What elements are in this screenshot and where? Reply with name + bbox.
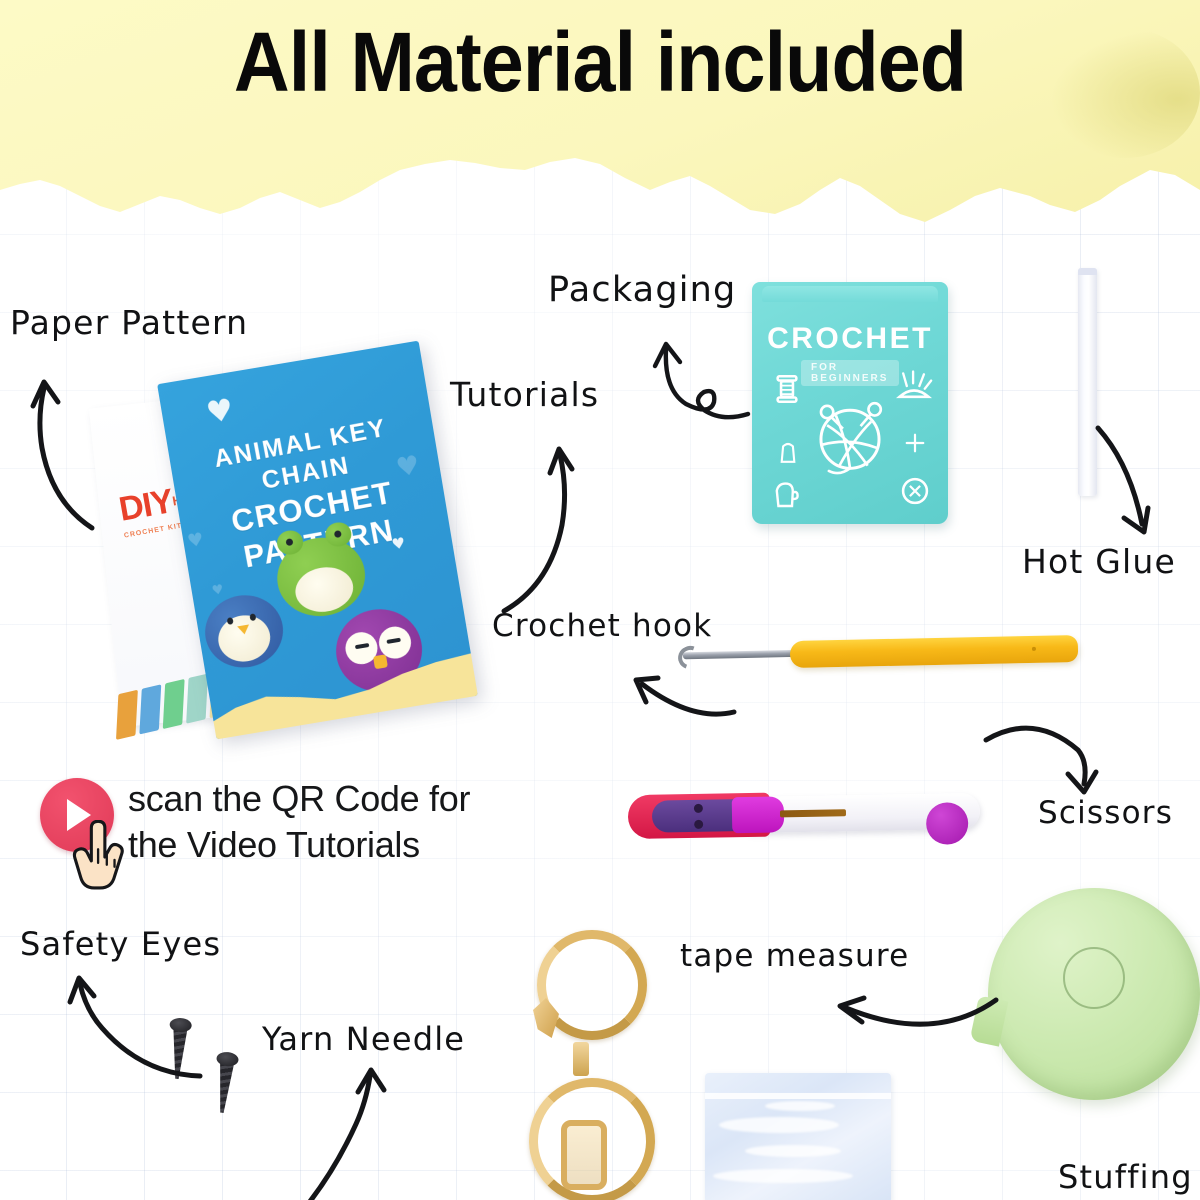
yarn-ball-icon — [806, 390, 894, 478]
arrow-to-tutorials — [458, 415, 588, 615]
infographic-canvas: All Material included DIYHANDICRAFT CROC… — [0, 0, 1200, 1200]
cutter-blade — [780, 809, 846, 817]
arrow-to-paper-pattern — [6, 352, 136, 532]
tape-measure — [988, 888, 1200, 1100]
qr-callout-line2: the Video Tutorials — [128, 822, 470, 868]
tape-measure-center — [1063, 947, 1125, 1009]
bag-subtitle: FOR BEGINNERS — [801, 360, 899, 386]
stuffing-bag — [705, 1073, 891, 1200]
label-safety-eyes: Safety Eyes — [20, 925, 221, 963]
thimble-icon — [774, 438, 802, 466]
pincushion-icon — [894, 368, 934, 404]
bag-brand-word: CROCHET — [752, 322, 948, 356]
keychain-link — [573, 1042, 589, 1076]
sewing-button-icon — [898, 474, 932, 508]
crochet-package-bag: CROCHET FOR BEGINNERS — [752, 282, 948, 524]
qr-callout-line1: scan the QR Code for — [128, 776, 470, 822]
thread-cutter-scissors — [628, 781, 981, 847]
arrow-to-safety-eyes — [50, 960, 210, 1090]
heart-icon: ♥ — [204, 392, 236, 431]
arrow-to-crochet-hook — [600, 650, 740, 730]
penguin-amigurumi — [200, 589, 289, 673]
keychain-swivel — [561, 1120, 607, 1190]
hand-pointer-icon — [72, 820, 130, 896]
label-tutorials: Tutorials — [450, 375, 599, 414]
label-yarn-needle: Yarn Needle — [262, 1020, 465, 1058]
label-paper-pattern: Paper Pattern — [10, 303, 248, 342]
keychain-clasp — [515, 930, 665, 1200]
label-packaging: Packaging — [548, 270, 736, 310]
qr-callout-text: scan the QR Code for the Video Tutorials — [128, 776, 470, 868]
arrow-to-scissors — [980, 710, 1110, 820]
arrow-to-tape-measure — [810, 962, 1010, 1052]
arrow-to-hot-glue — [1090, 420, 1200, 550]
label-stuffing: Stuffing — [1058, 1158, 1193, 1196]
sparkle-icon — [904, 432, 926, 454]
cutter-knob — [926, 802, 969, 845]
heart-icon: ♥ — [211, 582, 225, 599]
mitten-icon — [768, 478, 800, 510]
bag-zip-top — [762, 286, 938, 302]
thread-spool-icon — [770, 372, 804, 406]
arrow-to-yarn-needle — [288, 1058, 428, 1200]
arrow-to-packaging — [630, 318, 760, 428]
page-title: All Material included — [48, 18, 1152, 106]
cutter-cap-magenta — [732, 796, 785, 833]
